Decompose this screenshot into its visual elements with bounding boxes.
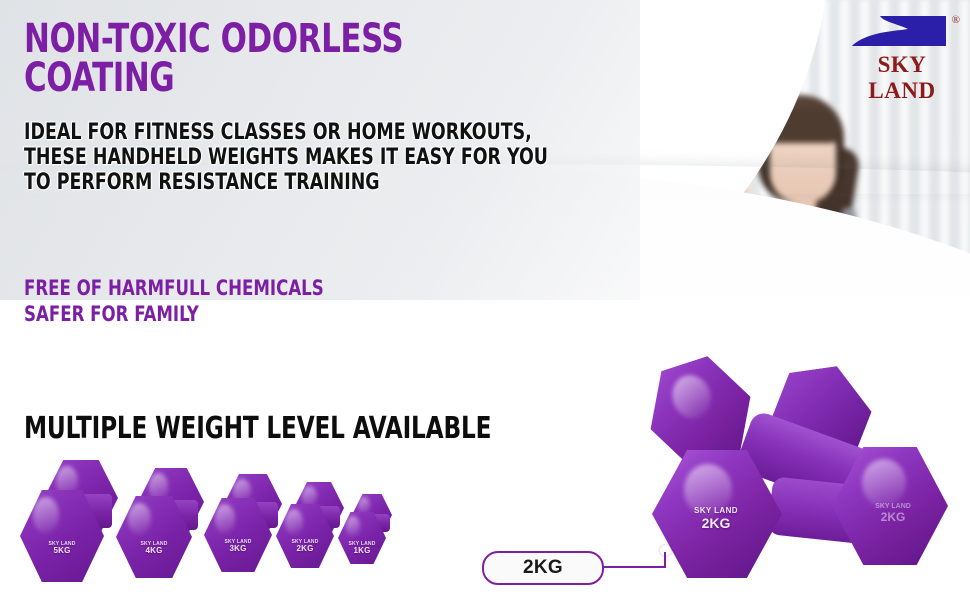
hero-weight-text: 2KG: [668, 516, 764, 531]
dumbbell-5kg-brand: SKY LAND: [20, 542, 104, 547]
product-banner: NON-TOXIC ODORLESS COATING IDEAL FOR FIT…: [0, 0, 970, 600]
dumbbell-5kg-weight: 5KG: [20, 547, 104, 555]
brand-name: SKY LAND: [846, 52, 958, 104]
dumbbell-4kg-weight: 4KG: [116, 547, 192, 555]
registered-trademark-icon: ®: [952, 14, 960, 26]
dumbbell-4kg-brand: SKY LAND: [116, 542, 192, 547]
subheadline-text: IDEAL FOR FITNESS CLASSES OR HOME WORKOU…: [24, 120, 570, 195]
brand-logo: ® SKY LAND: [846, 12, 958, 82]
weight-size-row: SKY LAND 5KG SKY LAND 4KG SKY LAND: [18, 452, 448, 600]
dumbbell-2kg-weight: 2KG: [276, 545, 334, 553]
dumbbell-3kg-brand: SKY LAND: [204, 540, 272, 545]
page-title: NON-TOXIC ODORLESS COATING: [24, 20, 506, 98]
dumbbell-1kg-label: SKY LAND 1KG: [338, 542, 386, 556]
claim-line-2: SAFER FOR FAMILY: [24, 301, 446, 327]
callout-leader-line: [600, 566, 666, 568]
hero-secondary-weight-text: 2KG: [848, 511, 938, 524]
hero-dumbbell-secondary-label: SKY LAND 2KG: [848, 503, 938, 524]
hero-dumbbell-label: SKY LAND 2KG: [668, 507, 764, 531]
weight-levels-heading: MULTIPLE WEIGHT LEVEL AVAILABLE: [24, 413, 491, 445]
dumbbell-2kg-brand: SKY LAND: [276, 540, 334, 545]
callout-badge-2kg: 2KG: [482, 551, 604, 585]
dumbbell-1kg-weight: 1KG: [338, 547, 386, 555]
dumbbell-2kg-label: SKY LAND 2KG: [276, 540, 334, 554]
product-claims: FREE OF HARMFULL CHEMICALS SAFER FOR FAM…: [24, 275, 446, 327]
dumbbell-1kg-brand: SKY LAND: [338, 542, 386, 547]
dumbbell-5kg-label: SKY LAND 5KG: [20, 542, 104, 556]
dumbbell-3kg-label: SKY LAND 3KG: [204, 540, 272, 554]
claim-line-1: FREE OF HARMFULL CHEMICALS: [24, 275, 446, 301]
dumbbell-4kg-label: SKY LAND 4KG: [116, 542, 192, 556]
hero-dumbbell-pair: SKY LAND 2KG SKY LAND 2KG: [620, 355, 970, 600]
dumbbell-3kg-weight: 3KG: [204, 545, 272, 553]
sky-land-swoosh-icon: [850, 12, 954, 52]
